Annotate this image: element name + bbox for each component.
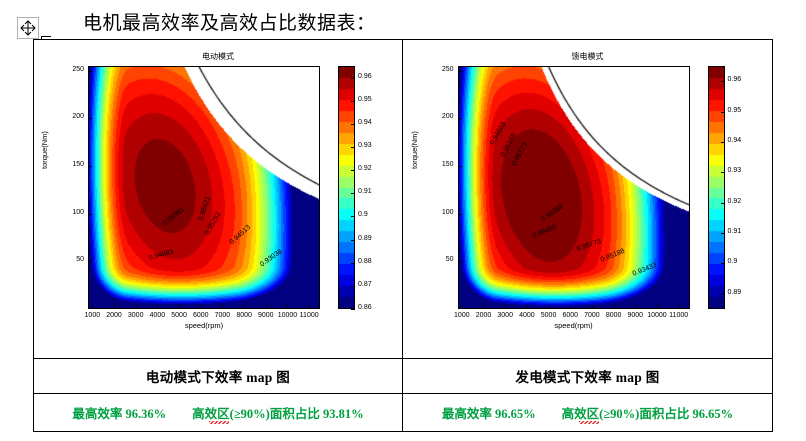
colorbar-tick-label: 0.89 (728, 289, 742, 296)
x-axis-label: speed(rpm) (458, 321, 690, 330)
stats-cell-motor: 最高效率 96.36% 高效区(≥90%)面积占比 93.81% (34, 394, 403, 431)
chart-title: 电动模式 (42, 51, 394, 62)
x-tick (635, 305, 636, 309)
x-tick (657, 305, 658, 309)
colorbar-tick (721, 112, 725, 113)
y-tick-label: 250 (424, 66, 454, 73)
colorbar-tick (351, 124, 355, 125)
colorbar-tick (351, 286, 355, 287)
x-tick (114, 305, 115, 309)
stats-cell-generator: 最高效率 96.65% 高效区(≥90%)面积占比 96.65% (403, 394, 772, 431)
y-tick (458, 166, 462, 167)
plot-axes (88, 66, 320, 309)
y-tick (88, 71, 92, 72)
colorbar-tick-label: 0.94 (728, 137, 742, 144)
x-tick (222, 305, 223, 309)
colorbar-tick-label: 0.87 (358, 281, 372, 288)
stat-label: 最高效率 (442, 407, 492, 421)
colorbar-tick (721, 81, 725, 82)
high-efficiency-area-stat-motor: 高效区(≥90%)面积占比 93.81% (192, 403, 363, 422)
x-axis-label: speed(rpm) (88, 321, 320, 330)
stat-value: 96.65% (495, 407, 536, 421)
x-tick (505, 305, 506, 309)
chart-cell-motor: 电动模式 speed(rpm) torque(Nm) 1000200030004… (34, 40, 403, 358)
colorbar-tick-label: 0.96 (728, 76, 742, 83)
caption-cell-motor: 电动模式下效率 map 图 (34, 359, 403, 393)
colorbar-tick (721, 294, 725, 295)
stat-label: 最高效率 (72, 407, 122, 421)
colorbar-tick (351, 101, 355, 102)
plot-axes (458, 66, 690, 309)
colorbar-tick (721, 203, 725, 204)
chart-caption: 发电模式下效率 map 图 (515, 366, 659, 386)
colorbar-tick-label: 0.95 (728, 107, 742, 114)
colorbar-tick (351, 193, 355, 194)
colorbar (338, 66, 355, 309)
x-tick (592, 305, 593, 309)
colorbar-tick-label: 0.93 (728, 167, 742, 174)
y-tick-label: 50 (424, 256, 454, 263)
colorbar-tick-label: 0.91 (358, 188, 372, 195)
x-tick (136, 305, 137, 309)
y-tick (458, 214, 462, 215)
peak-efficiency-stat-motor: 最高效率 96.36% (72, 403, 166, 422)
stat-value: 96.65% (692, 407, 733, 421)
caption-cell-generator: 发电模式下效率 map 图 (403, 359, 772, 393)
high-efficiency-area-stat-generator: 高效区(≥90%)面积占比 96.65% (562, 403, 733, 422)
colorbar-tick (351, 170, 355, 171)
y-tick (88, 261, 92, 262)
document-page: 电机最高效率及高效占比数据表： 电动模式 speed(rpm) torque(N… (0, 0, 806, 441)
efficiency-map-figure-generator: 馈电模式 speed(rpm) torque(Nm) 1000200030004… (412, 49, 764, 349)
y-tick-label: 100 (424, 209, 454, 216)
colorbar-tick-label: 0.86 (358, 304, 372, 311)
data-table: 电动模式 speed(rpm) torque(Nm) 1000200030004… (33, 39, 773, 432)
colorbar-tick-label: 0.92 (358, 165, 372, 172)
y-tick-label: 200 (424, 113, 454, 120)
x-tick (157, 305, 158, 309)
chart-cell-generator: 馈电模式 speed(rpm) torque(Nm) 1000200030004… (403, 40, 772, 358)
x-tick (287, 305, 288, 309)
y-tick-label: 150 (424, 161, 454, 168)
colorbar-tick-label: 0.88 (358, 258, 372, 265)
colorbar-tick-label: 0.89 (358, 235, 372, 242)
x-tick (549, 305, 550, 309)
stat-label: 高效区(≥90%)面积占比 (192, 407, 320, 421)
colorbar-tick-label: 0.96 (358, 73, 372, 80)
peak-efficiency-stat-generator: 最高效率 96.65% (442, 403, 536, 422)
y-tick-label: 100 (54, 209, 84, 216)
y-tick (458, 118, 462, 119)
colorbar-tick-label: 0.9 (358, 211, 368, 218)
x-tick (266, 305, 267, 309)
table-row-stats: 最高效率 96.36% 高效区(≥90%)面积占比 93.81% 最高效率 96… (34, 393, 772, 431)
colorbar-tick-label: 0.92 (728, 198, 742, 205)
colorbar-tick-label: 0.95 (358, 96, 372, 103)
table-row-charts: 电动模式 speed(rpm) torque(Nm) 1000200030004… (34, 40, 772, 358)
colorbar-tick (351, 309, 355, 310)
colorbar-tick (721, 233, 725, 234)
x-tick (527, 305, 528, 309)
colorbar-tick (351, 240, 355, 241)
colorbar-tick (721, 263, 725, 264)
stat-value: 93.81% (323, 407, 364, 421)
x-tick-label: 11000 (659, 312, 699, 319)
y-tick-label: 50 (54, 256, 84, 263)
y-tick-label: 200 (54, 113, 84, 120)
x-tick-label: 11000 (289, 312, 329, 319)
x-tick (484, 305, 485, 309)
x-tick (244, 305, 245, 309)
colorbar-tick (351, 263, 355, 264)
table-move-handle-icon[interactable] (17, 17, 39, 39)
chart-title: 馈电模式 (412, 51, 764, 62)
x-tick (201, 305, 202, 309)
colorbar-tick-label: 0.94 (358, 119, 372, 126)
y-tick-label: 150 (54, 161, 84, 168)
x-tick (179, 305, 180, 309)
y-axis-label: torque(Nm) (40, 131, 49, 169)
table-row-captions: 电动模式下效率 map 图 发电模式下效率 map 图 (34, 358, 772, 393)
colorbar-tick (351, 78, 355, 79)
x-tick (92, 305, 93, 309)
colorbar-tick-label: 0.91 (728, 228, 742, 235)
y-tick-label: 250 (54, 66, 84, 73)
x-tick (309, 305, 310, 309)
colorbar-tick-label: 0.93 (358, 142, 372, 149)
x-tick (614, 305, 615, 309)
chart-caption: 电动模式下效率 map 图 (146, 366, 290, 386)
stat-label: 高效区(≥90%)面积占比 (562, 407, 690, 421)
y-axis-label: torque(Nm) (410, 131, 419, 169)
colorbar-tick (351, 216, 355, 217)
y-tick (458, 261, 462, 262)
x-tick (462, 305, 463, 309)
colorbar-tick-label: 0.9 (728, 258, 738, 265)
x-tick (570, 305, 571, 309)
colorbar (708, 66, 725, 309)
y-tick (88, 166, 92, 167)
colorbar-tick (721, 142, 725, 143)
stat-value: 96.36% (126, 407, 167, 421)
y-tick (88, 214, 92, 215)
efficiency-map-figure-motor: 电动模式 speed(rpm) torque(Nm) 1000200030004… (42, 49, 394, 349)
colorbar-tick (721, 172, 725, 173)
y-tick (458, 71, 462, 72)
spellcheck-underline (579, 421, 599, 424)
colorbar-tick (351, 147, 355, 148)
y-tick (88, 118, 92, 119)
x-tick (679, 305, 680, 309)
spellcheck-underline (209, 421, 229, 424)
page-title: 电机最高效率及高效占比数据表： (83, 8, 376, 35)
